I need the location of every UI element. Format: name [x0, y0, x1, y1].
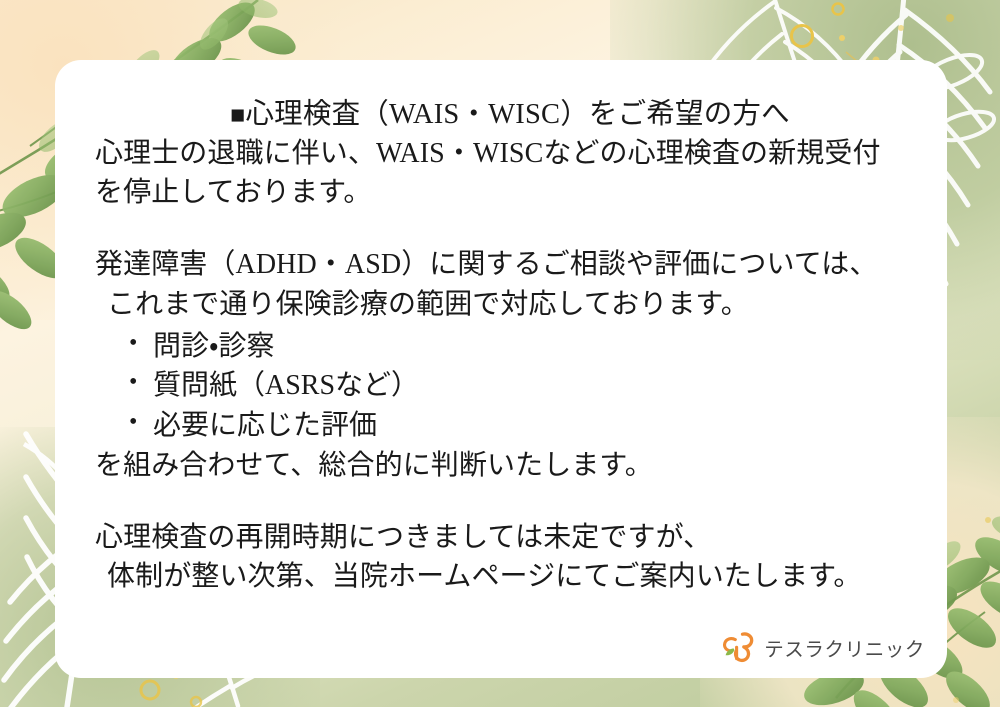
page-title: ■心理検査（WAIS・WISC）をご希望の方へ — [95, 96, 917, 134]
evaluation-method-list: 問診・診察 質問紙（ASRSなど） 必要に応じた評価 — [95, 327, 917, 446]
clinic-logo-wordmark: テスラクリニック — [764, 633, 925, 662]
page-title-text: 心理検査（WAIS・WISC）をご希望の方へ — [245, 99, 789, 130]
card-content: ■心理検査（WAIS・WISC）をご希望の方へ 心理士の退職に伴い、WAIS・W… — [95, 96, 917, 597]
square-bullet-icon: ■ — [230, 102, 245, 129]
paragraph-3-line-1: を組み合わせて、総合的に判断いたします。 — [95, 446, 917, 486]
list-item: 質問紙（ASRSなど） — [95, 366, 917, 406]
list-item: 必要に応じた評価 — [95, 406, 917, 446]
paragraph-4-line-1: 心理検査の再開時期につきましては未定ですが、 — [95, 518, 917, 558]
list-item: 問診・診察 — [95, 327, 917, 367]
paragraph-spacer-2 — [95, 486, 917, 518]
paragraph-1-line-2: を停止しております。 — [95, 173, 917, 213]
paragraph-2-line-2: これまで通り保険診療の範囲で対応しております。 — [95, 285, 917, 325]
tesla-clinic-butterfly-mark — [721, 630, 755, 664]
paragraph-2-line-1: 発達障害（ADHD・ASD）に関するご相談や評価については、 — [95, 245, 917, 285]
paragraph-4-line-2: 体制が整い次第、当院ホームページにてご案内いたします。 — [95, 557, 917, 597]
announcement-card: ■心理検査（WAIS・WISC）をご希望の方へ 心理士の退職に伴い、WAIS・W… — [55, 60, 947, 678]
clinic-logo: テスラクリニック — [721, 630, 925, 664]
paragraph-spacer-1 — [95, 213, 917, 245]
poster-canvas: ■心理検査（WAIS・WISC）をご希望の方へ 心理士の退職に伴い、WAIS・W… — [0, 0, 1000, 707]
paragraph-1-line-1: 心理士の退職に伴い、WAIS・WISCなどの心理検査の新規受付 — [95, 134, 917, 174]
